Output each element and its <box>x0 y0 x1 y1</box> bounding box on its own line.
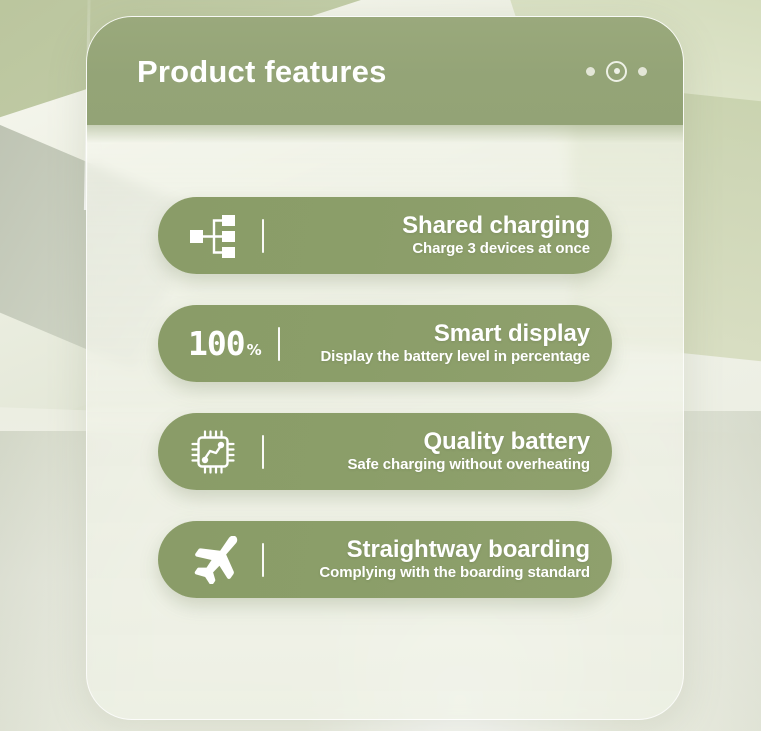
page-dot-2-active[interactable] <box>606 61 627 82</box>
pill-divider <box>278 327 280 361</box>
feature-subtitle: Display the battery level in percentage <box>286 349 590 365</box>
feature-pill-shared-charging[interactable]: Shared charging Charge 3 devices at once <box>158 197 612 274</box>
feature-title: Quality battery <box>270 430 590 455</box>
feature-text: Quality battery Safe charging without ov… <box>264 430 590 473</box>
features-card: Product features <box>86 16 684 720</box>
page-dot-1[interactable] <box>586 67 595 76</box>
feature-list: Shared charging Charge 3 devices at once… <box>87 197 683 598</box>
feature-text: Straightway boarding Complying with the … <box>264 538 590 581</box>
page-dot-3[interactable] <box>638 67 647 76</box>
feature-subtitle: Charge 3 devices at once <box>270 241 590 257</box>
feature-pill-straightway-boarding[interactable]: Straightway boarding Complying with the … <box>158 521 612 598</box>
card-body: Shared charging Charge 3 devices at once… <box>87 125 683 598</box>
pill-divider <box>262 435 264 469</box>
feature-subtitle: Safe charging without overheating <box>270 457 590 473</box>
share-hub-icon <box>188 214 250 258</box>
page-indicator-dots[interactable] <box>586 61 647 82</box>
feature-title: Smart display <box>286 322 590 347</box>
airplane-takeoff-icon <box>188 536 250 584</box>
microchip-icon <box>188 427 250 477</box>
feature-subtitle: Complying with the boarding standard <box>270 565 590 581</box>
pill-divider <box>262 219 264 253</box>
product-features-screen: Product features <box>0 0 761 731</box>
feature-title: Shared charging <box>270 214 590 239</box>
battery-percent-100-icon: 100 % <box>188 327 266 360</box>
feature-text: Shared charging Charge 3 devices at once <box>264 214 590 257</box>
card-header: Product features <box>87 17 683 125</box>
page-title: Product features <box>137 56 586 87</box>
pill-divider <box>262 543 264 577</box>
feature-pill-smart-display[interactable]: 100 % Smart display Display the battery … <box>158 305 612 382</box>
percent-symbol: % <box>247 343 262 360</box>
feature-pill-quality-battery[interactable]: Quality battery Safe charging without ov… <box>158 413 612 490</box>
feature-title: Straightway boarding <box>270 538 590 563</box>
battery-percent-value: 100 <box>188 327 245 360</box>
feature-text: Smart display Display the battery level … <box>280 322 590 365</box>
